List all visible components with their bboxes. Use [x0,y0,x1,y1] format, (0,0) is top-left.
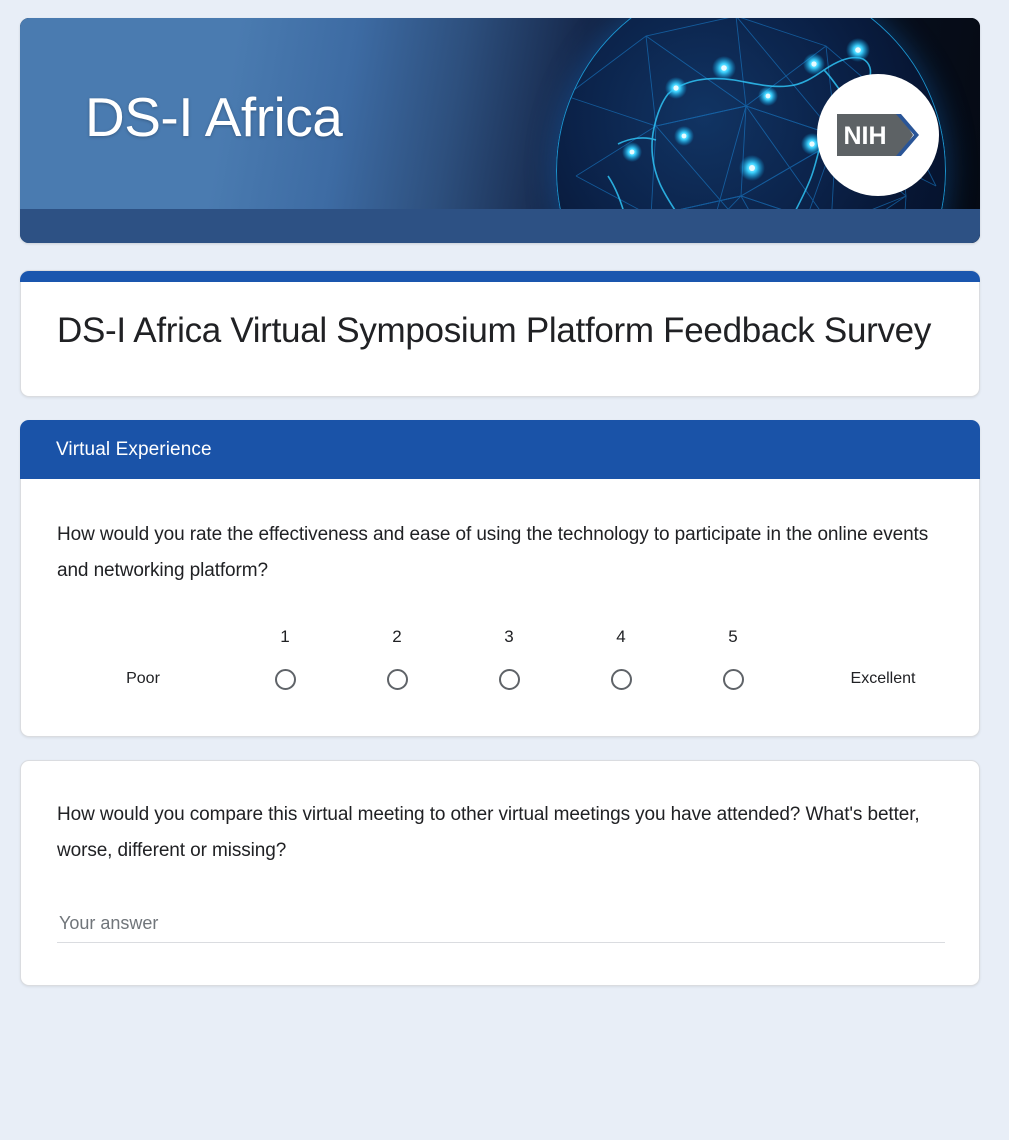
scale-option-2[interactable] [341,669,453,690]
answer-input[interactable] [57,911,945,943]
radio-button-1[interactable] [275,669,296,690]
scale-number-3: 3 [453,627,565,669]
banner-title: DS-I Africa [85,90,342,145]
scale-low-label: Poor [57,670,229,688]
short-answer-field[interactable] [57,911,945,943]
scale-number-4: 4 [565,627,677,669]
scale-high-label: Excellent [789,670,943,688]
radio-button-5[interactable] [723,669,744,690]
radio-button-2[interactable] [387,669,408,690]
radio-button-3[interactable] [499,669,520,690]
question-card-2: How would you compare this virtual meeti… [20,760,980,986]
scale-option-1[interactable] [229,669,341,690]
scale-number-2: 2 [341,627,453,669]
question-2-text: How would you compare this virtual meeti… [57,797,943,869]
form-title-card: DS-I Africa Virtual Symposium Platform F… [20,270,980,397]
nih-logo-text: NIH [843,122,886,150]
banner-bottom-bar [20,209,980,243]
scale-option-5[interactable] [677,669,789,690]
question-1-text: How would you rate the effectiveness and… [57,517,943,589]
radio-button-4[interactable] [611,669,632,690]
linear-scale-1: 1 2 3 4 5 Poor [57,627,943,690]
nih-logo: NIH [817,74,939,196]
scale-option-3[interactable] [453,669,565,690]
scale-number-1: 1 [229,627,341,669]
question-card-1: Virtual Experience How would you rate th… [20,420,980,737]
section-header: Virtual Experience [20,420,980,479]
scale-number-5: 5 [677,627,789,669]
section-header-title: Virtual Experience [56,439,212,460]
form-page: DS-I Africa NIH DS-I Africa Virtual Symp… [0,0,1009,986]
scale-option-4[interactable] [565,669,677,690]
form-accent-bar [20,271,980,282]
form-banner-image: DS-I Africa NIH [20,18,980,243]
page-title: DS-I Africa Virtual Symposium Platform F… [57,309,943,354]
